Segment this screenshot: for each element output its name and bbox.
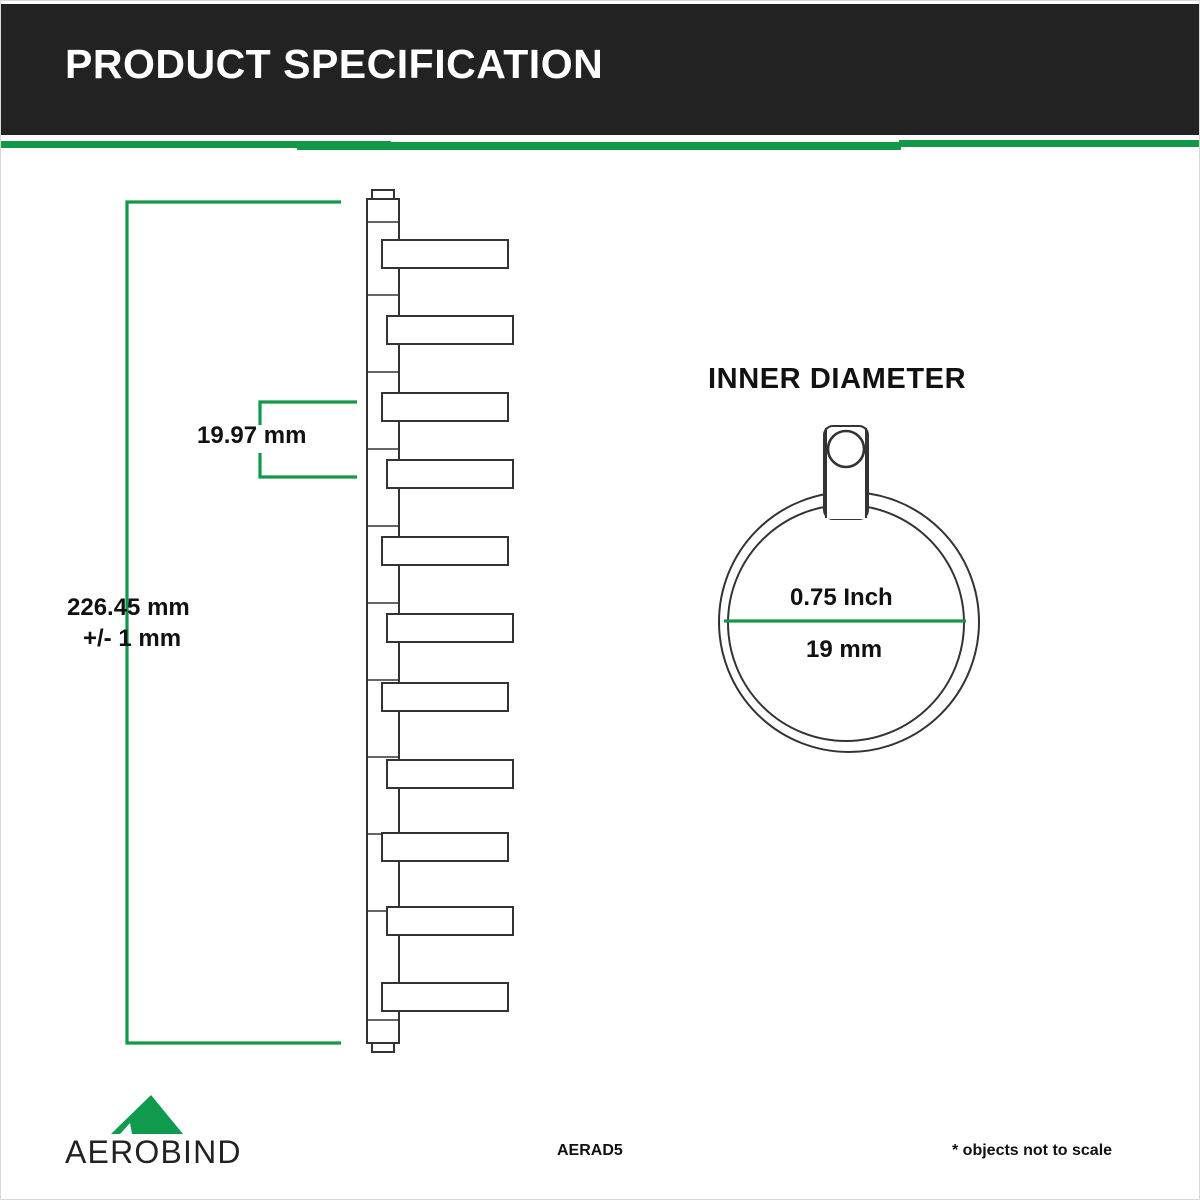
ring-outer-circle <box>719 492 979 752</box>
pitch-dimension-label: 19.97 mm <box>197 422 306 450</box>
aerobind-logo-mark <box>111 1095 183 1134</box>
spine-top-nub <box>372 190 394 199</box>
inner-diameter-mm-label: 19 mm <box>806 636 882 664</box>
spec-sheet-page: PRODUCT SPECIFICATION <box>0 0 1200 1200</box>
ring-inner-circle <box>728 505 964 741</box>
tine <box>382 833 508 861</box>
spine-segment-dividers <box>367 222 399 1020</box>
inner-diameter-inch-label: 0.75 Inch <box>790 584 893 612</box>
scale-disclaimer: * objects not to scale <box>952 1142 1112 1160</box>
comb-spine <box>367 190 399 1052</box>
overall-length-dimension <box>127 202 341 1043</box>
tine <box>382 393 508 421</box>
tine <box>387 614 513 642</box>
tine <box>382 983 508 1011</box>
brand-wordmark: AEROBIND <box>65 1134 242 1171</box>
spine-body <box>367 199 399 1043</box>
comb-tines <box>382 240 513 1011</box>
ring-tab-fill <box>826 481 866 519</box>
tine <box>382 537 508 565</box>
product-code: AERAD5 <box>557 1142 623 1160</box>
tine <box>387 460 513 488</box>
inner-diameter-title: INNER DIAMETER <box>708 363 966 396</box>
accent-rule-center <box>297 142 901 150</box>
tine <box>387 316 513 344</box>
overall-length-label: 226.45 mm <box>67 594 190 622</box>
accent-rule-right <box>899 140 1200 147</box>
overall-length-tolerance-label: +/- 1 mm <box>83 625 181 653</box>
ring-tab <box>824 426 868 519</box>
tine <box>382 683 508 711</box>
tine <box>382 240 508 268</box>
page-title: PRODUCT SPECIFICATION <box>65 41 603 88</box>
ring-tab-hole <box>828 431 864 467</box>
tine <box>387 760 513 788</box>
tine <box>387 907 513 935</box>
spine-bottom-nub <box>372 1043 394 1052</box>
